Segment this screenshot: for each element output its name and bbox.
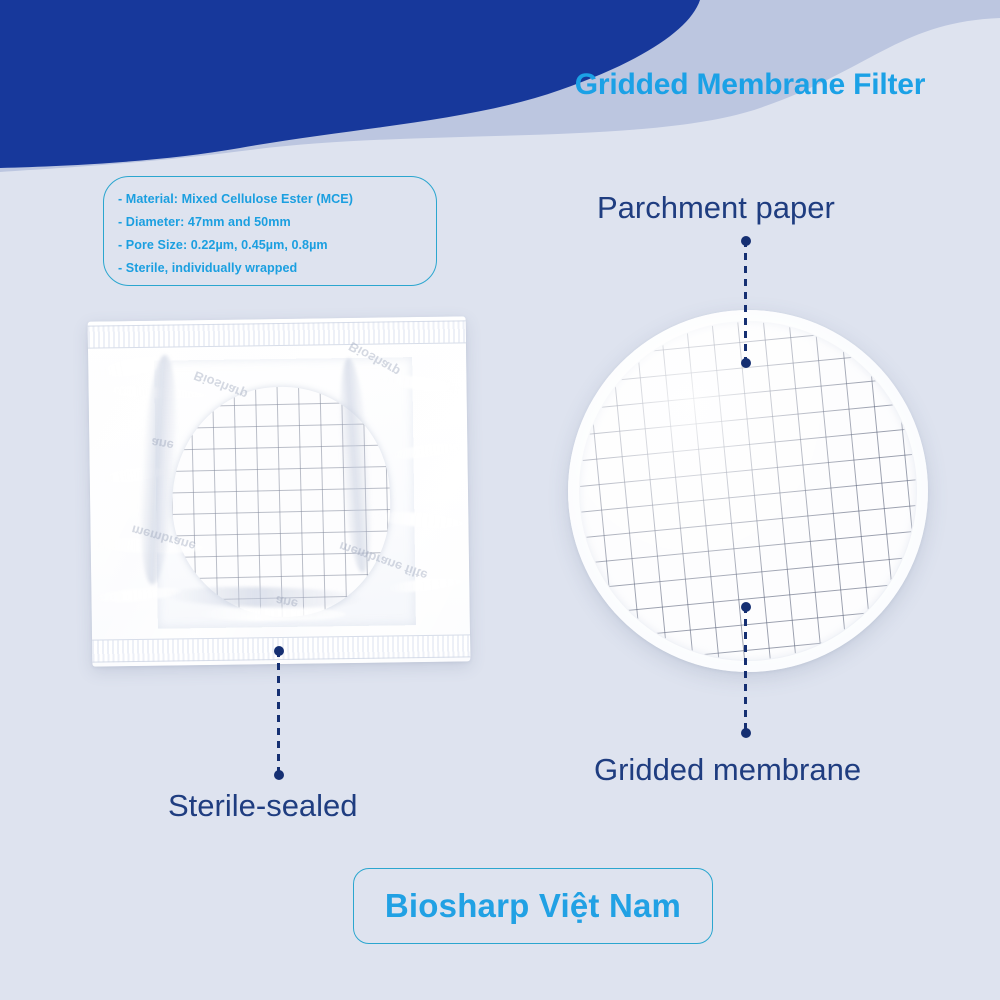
leader-dot — [741, 602, 751, 612]
spec-line-material: - Material: Mixed Cellulose Ester (MCE) — [118, 188, 436, 211]
specifications-box: - Material: Mixed Cellulose Ester (MCE) … — [103, 176, 437, 286]
callout-label-gridded-membrane: Gridded membrane — [594, 752, 861, 788]
product-photo-sachet: Biosharp ane membrane Biosharp membrane … — [78, 305, 488, 680]
leader-line-sterile-sealed — [277, 650, 280, 776]
leader-dot — [274, 646, 284, 656]
leader-dot — [741, 236, 751, 246]
callout-label-sterile-sealed: Sterile-sealed — [168, 788, 358, 824]
leader-dot — [274, 770, 284, 780]
sealed-pouch: Biosharp ane membrane Biosharp membrane … — [88, 316, 471, 666]
leader-line-parchment-paper — [744, 240, 747, 364]
leader-line-gridded-membrane — [744, 606, 747, 734]
callout-label-parchment-paper: Parchment paper — [597, 190, 835, 226]
membrane-disc-inside-pouch — [168, 383, 395, 622]
membrane-grid-pattern — [168, 383, 395, 622]
spec-line-diameter: - Diameter: 47mm and 50mm — [118, 211, 436, 234]
spec-line-pore-size: - Pore Size: 0.22µm, 0.45µm, 0.8µm — [118, 234, 436, 257]
spec-line-sterile: - Sterile, individually wrapped — [118, 257, 436, 280]
brand-badge: Biosharp Việt Nam — [353, 868, 713, 944]
page-title: Gridded Membrane Filter — [540, 68, 960, 102]
leader-dot — [741, 728, 751, 738]
infographic-page: Gridded Membrane Filter - Material: Mixe… — [0, 0, 1000, 1000]
brand-name: Biosharp Việt Nam — [385, 887, 681, 925]
leader-dot — [741, 358, 751, 368]
